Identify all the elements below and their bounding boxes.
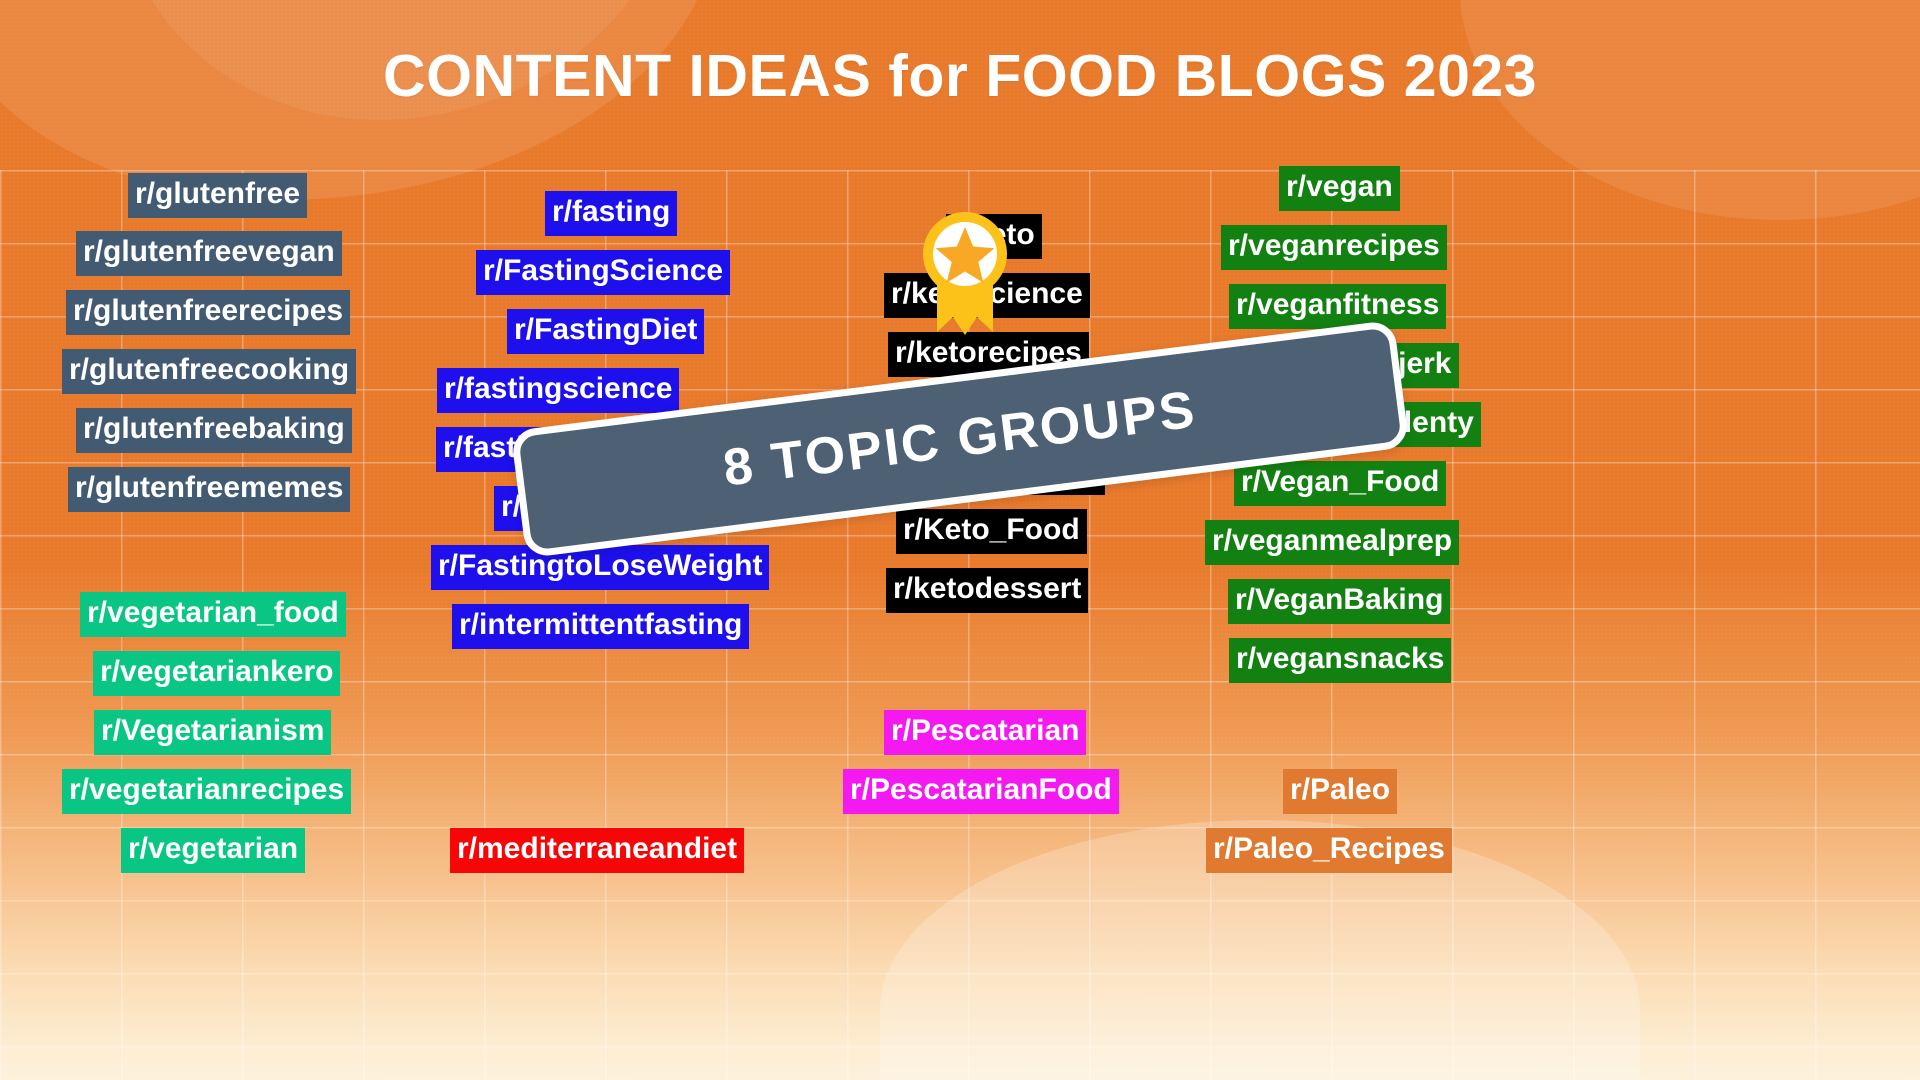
tag-vegetariankero[interactable]: r/vegetariankero (93, 651, 340, 696)
tag-label: r/ketodessert (893, 572, 1081, 605)
tag-vegetarianism[interactable]: r/Vegetarianism (94, 710, 331, 755)
award-ribbon-icon (915, 210, 1015, 340)
tag-label: r/VeganBaking (1235, 583, 1443, 616)
tag-fastingscience[interactable]: r/FastingScience (476, 250, 730, 295)
tag-label: r/vegetarian (128, 832, 298, 865)
tag-pescatarian[interactable]: r/Pescatarian (884, 710, 1086, 755)
tag-label: r/veganrecipes (1228, 229, 1440, 262)
tag-label: r/glutenfree (135, 177, 300, 210)
tag-label: r/glutenfreecooking (69, 353, 349, 386)
tag-label: r/mediterraneandiet (457, 832, 737, 865)
tag-veganfitness[interactable]: r/veganfitness (1229, 284, 1446, 329)
tag-label: r/veganmealprep (1212, 524, 1452, 557)
tag-pescatarianfood[interactable]: r/PescatarianFood (843, 769, 1119, 814)
tag-label: r/Paleo_Recipes (1213, 832, 1445, 865)
tag-veganmealprep[interactable]: r/veganmealprep (1205, 520, 1459, 565)
tag-label: r/glutenfreerecipes (73, 294, 343, 327)
tag-label: r/Keto_Food (903, 513, 1080, 546)
tag-label: r/Paleo (1290, 773, 1390, 806)
tag-label: r/vegetariankero (100, 655, 333, 688)
tag-label: r/FastingScience (483, 254, 723, 287)
tag-fasting[interactable]: r/fasting (545, 191, 677, 236)
tag-label: r/Vegetarianism (101, 714, 324, 747)
tag-vegetarianrecipes[interactable]: r/vegetarianrecipes (62, 769, 351, 814)
tag-vegetarian_food[interactable]: r/vegetarian_food (80, 592, 346, 637)
topic-groups-banner-label: 8 TOPIC GROUPS (720, 379, 1200, 498)
tag-paleo[interactable]: r/Paleo (1283, 769, 1397, 814)
tag-glutenfreevegan[interactable]: r/glutenfreevegan (76, 231, 342, 276)
tag-keto_food[interactable]: r/Keto_Food (896, 509, 1087, 554)
page-title: CONTENT IDEAS for FOOD BLOGS 2023 (0, 42, 1920, 110)
tag-mediterraneandiet[interactable]: r/mediterraneandiet (450, 828, 744, 873)
tag-label: r/vegan (1286, 170, 1393, 203)
tag-label: r/fastingscience (444, 372, 672, 405)
tag-paleo_recipes[interactable]: r/Paleo_Recipes (1206, 828, 1452, 873)
tag-label: r/Pescatarian (891, 714, 1079, 747)
tag-label: r/FastingtoLoseWeight (438, 549, 762, 582)
tag-label: r/vegetarian_food (87, 596, 339, 629)
tag-fastingscience[interactable]: r/fastingscience (437, 368, 679, 413)
tag-vegansnacks[interactable]: r/vegansnacks (1229, 638, 1451, 683)
tag-label: r/glutenfreebaking (83, 412, 345, 445)
tag-vegan[interactable]: r/vegan (1279, 166, 1400, 211)
tag-vegan_food[interactable]: r/Vegan_Food (1234, 461, 1446, 506)
tag-vegetarian[interactable]: r/vegetarian (121, 828, 305, 873)
tag-label: r/PescatarianFood (850, 773, 1112, 806)
tag-label: r/veganfitness (1236, 288, 1439, 321)
tag-glutenfreebaking[interactable]: r/glutenfreebaking (76, 408, 352, 453)
tag-glutenfreecooking[interactable]: r/glutenfreecooking (62, 349, 356, 394)
tag-label: r/Vegan_Food (1241, 465, 1439, 498)
tag-veganbaking[interactable]: r/VeganBaking (1228, 579, 1450, 624)
tag-veganrecipes[interactable]: r/veganrecipes (1221, 225, 1447, 270)
tag-label: r/vegetarianrecipes (69, 773, 344, 806)
tag-label: r/intermittentfasting (459, 608, 742, 641)
tag-fastingdiet[interactable]: r/FastingDiet (507, 309, 704, 354)
tag-label: r/fasting (552, 195, 670, 228)
tag-fastingtoloseweight[interactable]: r/FastingtoLoseWeight (431, 545, 769, 590)
tag-label: r/FastingDiet (514, 313, 697, 346)
tag-intermittentfasting[interactable]: r/intermittentfasting (452, 604, 749, 649)
tag-label: r/vegansnacks (1236, 642, 1444, 675)
tag-label: r/glutenfreevegan (83, 235, 335, 268)
tag-glutenfree[interactable]: r/glutenfree (128, 173, 307, 218)
tag-label: r/glutenfreememes (75, 471, 343, 504)
tag-ketodessert[interactable]: r/ketodessert (886, 568, 1088, 613)
tag-glutenfreememes[interactable]: r/glutenfreememes (68, 467, 350, 512)
tag-glutenfreerecipes[interactable]: r/glutenfreerecipes (66, 290, 350, 335)
